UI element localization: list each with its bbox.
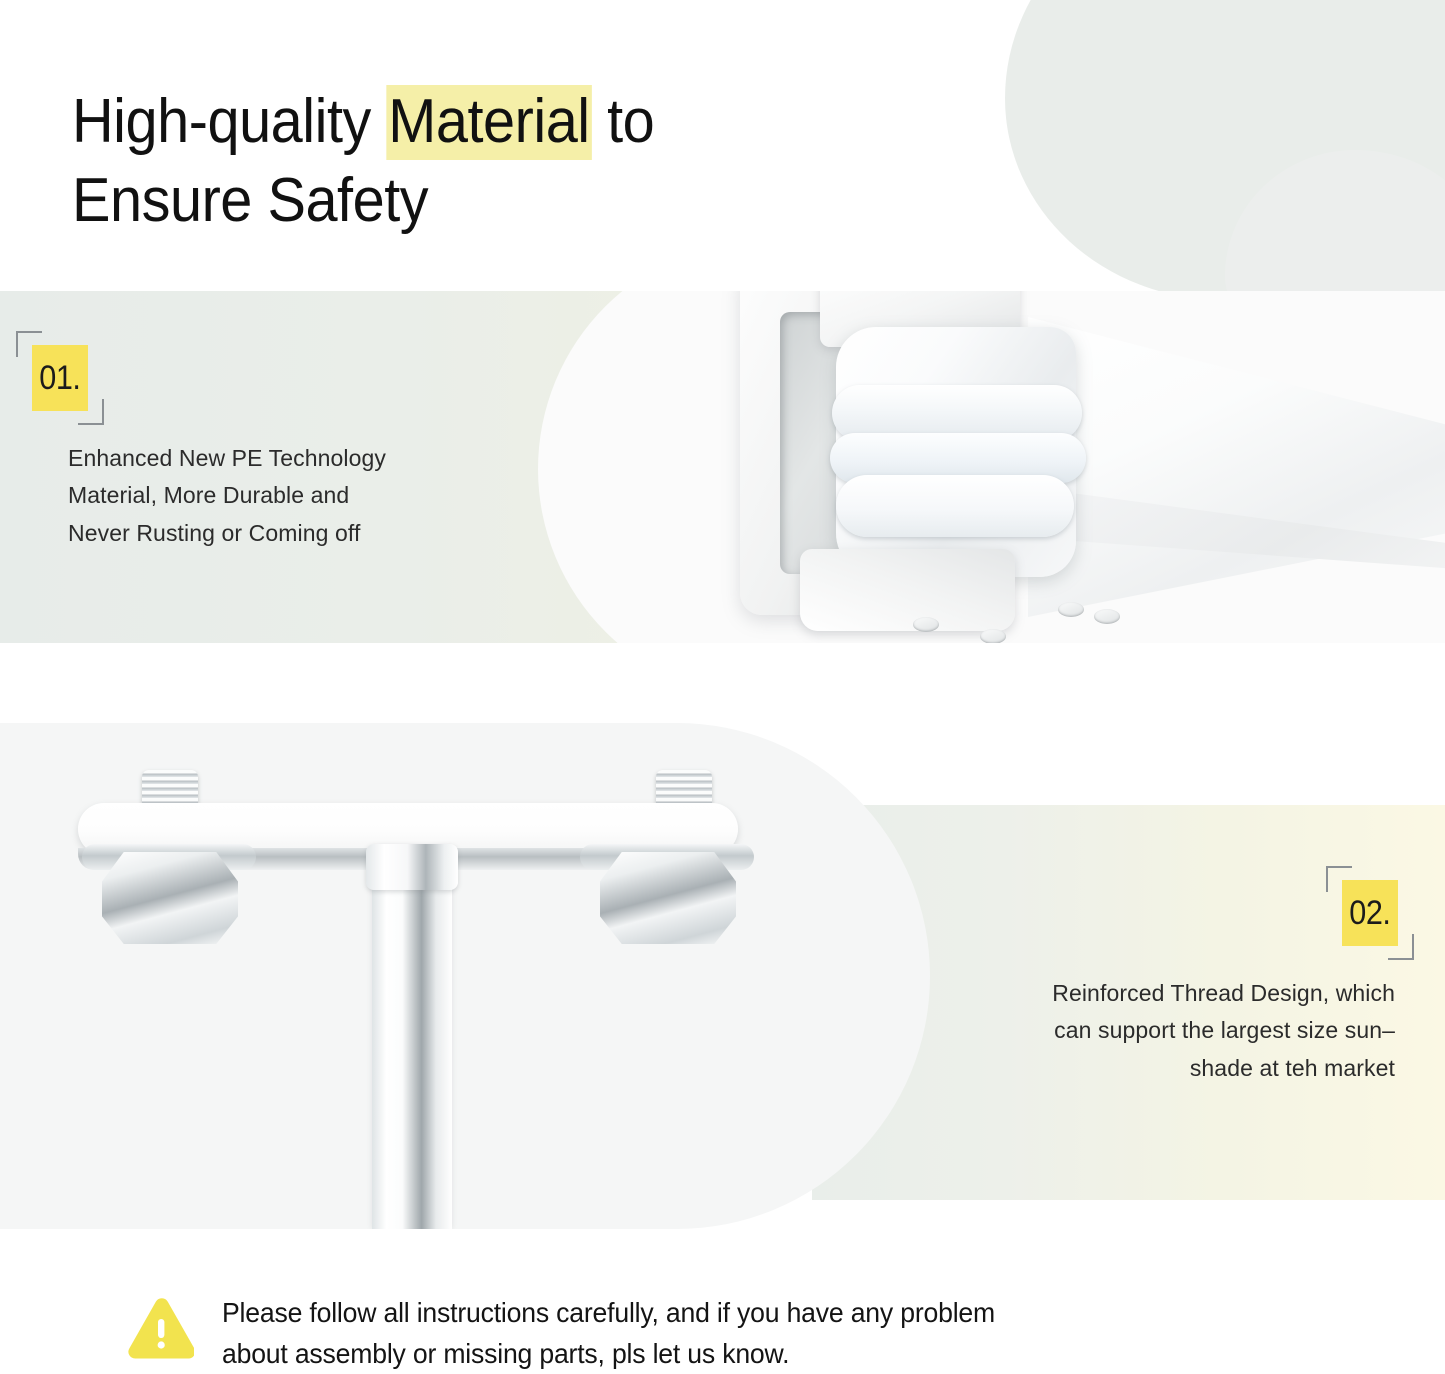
bracket-corner-bottom-right-icon [1388, 934, 1414, 960]
feature-01-badge-square: 01. [32, 345, 88, 411]
bracket-screw-3 [1058, 602, 1084, 617]
feature-02-photo [0, 723, 930, 1229]
bracket-bottom-cap [800, 549, 1015, 631]
headline-prefix: High-quality [72, 87, 386, 156]
headline-line-1: High-quality Material to [72, 85, 654, 160]
bracket-rail [1028, 317, 1445, 617]
instruction-note-line-1: Please follow all instructions carefully… [222, 1292, 995, 1333]
tube-collar [366, 844, 458, 890]
headline-suffix: to [592, 87, 655, 156]
feature-02-badge: 02. [1342, 880, 1398, 946]
instruction-note-text: Please follow all instructions carefully… [222, 1292, 995, 1374]
instruction-note: Please follow all instructions carefully… [128, 1292, 1036, 1374]
headline-line-2: Ensure Safety [72, 166, 428, 235]
bracket-screw-2 [980, 629, 1006, 643]
page-title: High-quality Material to Ensure Safety [72, 82, 654, 241]
feature-01-line-2: Material, More Durable and [68, 477, 386, 514]
t-bolt-illustration [60, 748, 760, 1229]
feature-02-line-3: shade at teh market [835, 1050, 1395, 1087]
bracket-corner-top-left-icon [1326, 866, 1352, 892]
bracket-screw-1 [913, 617, 939, 632]
bracket-ridge-3 [836, 475, 1074, 537]
pe-bracket-illustration [728, 291, 1148, 643]
feature-02-number: 02. [1349, 894, 1390, 933]
chrome-tube [372, 848, 452, 1229]
feature-01-line-3: Never Rusting or Coming off [68, 515, 386, 552]
bracket-corner-top-left-icon [16, 331, 42, 357]
feature-01-badge: 01. [32, 345, 88, 411]
feature-02-description: Reinforced Thread Design, which can supp… [835, 975, 1395, 1087]
bracket-corner-bottom-right-icon [78, 399, 104, 425]
feature-01-line-1: Enhanced New PE Technology [68, 440, 386, 477]
warning-triangle-icon [128, 1298, 194, 1360]
feature-01-number: 01. [39, 359, 80, 398]
hex-nut-right [600, 852, 736, 944]
bracket-screw-4 [1094, 609, 1120, 624]
feature-01-description: Enhanced New PE Technology Material, Mor… [68, 440, 386, 552]
feature-02-line-1: Reinforced Thread Design, which [835, 975, 1395, 1012]
instruction-note-line-2: about assembly or missing parts, pls let… [222, 1333, 995, 1374]
infographic-page: High-quality Material to Ensure Safety [0, 0, 1445, 1374]
feature-02-line-2: can support the largest size sun– [835, 1012, 1395, 1049]
feature-01-photo [538, 291, 1445, 643]
headline-highlight: Material [386, 85, 591, 160]
feature-02-badge-square: 02. [1342, 880, 1398, 946]
hex-nut-left [102, 852, 238, 944]
